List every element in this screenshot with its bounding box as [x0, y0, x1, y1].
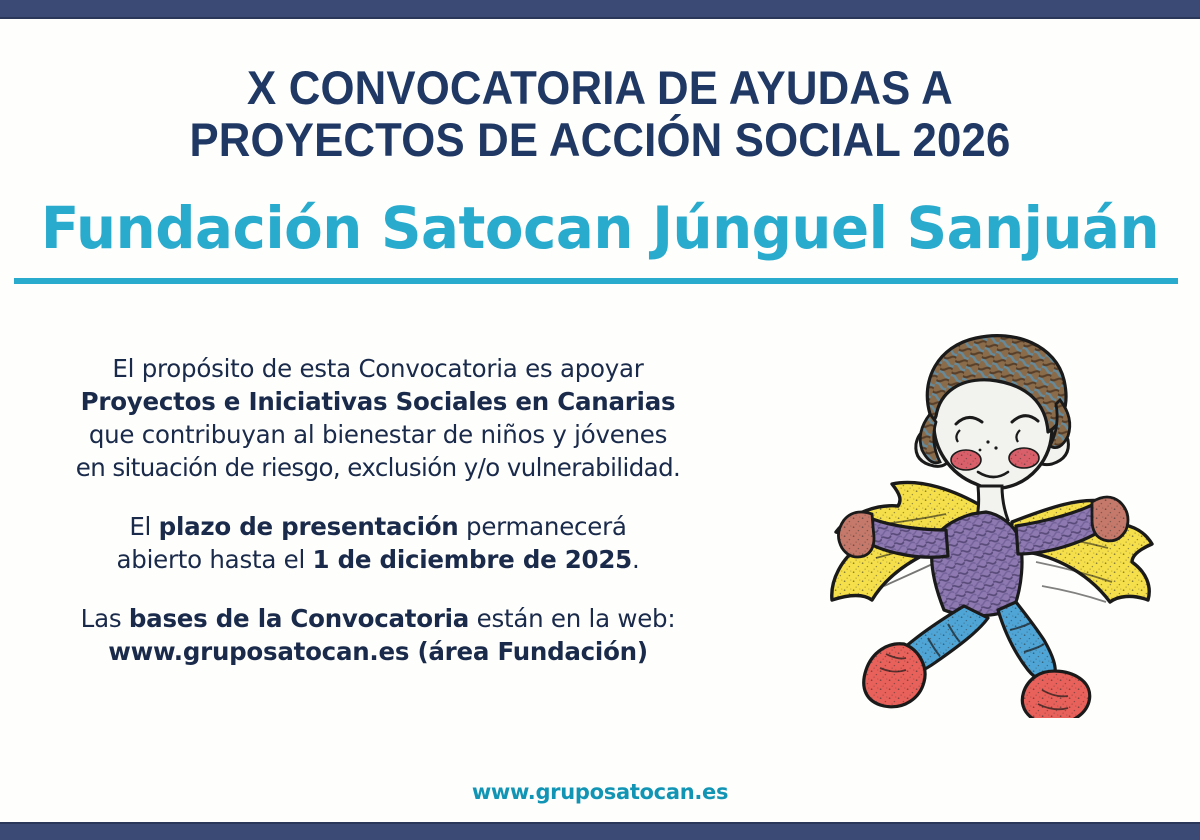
purpose-line-3: que contribuyan al bienestar de niños y …	[8, 418, 748, 451]
page-title: X CONVOCATORIA DE AYUDAS A PROYECTOS DE …	[42, 62, 1158, 166]
illustration-legs	[864, 602, 1090, 718]
deadline-line-2-pre: abierto hasta el	[117, 545, 313, 574]
page-title-line-2: PROYECTOS DE ACCIÓN SOCIAL 2026	[42, 114, 1158, 166]
deadline-date-bold: 1 de diciembre de 2025	[313, 545, 632, 574]
bottom-border-bar	[0, 822, 1200, 840]
deadline-line-1-pre: El	[129, 512, 158, 541]
purpose-line-2-bold: Proyectos e Iniciativas Sociales en Cana…	[81, 387, 676, 416]
rules-term-bold: bases de la Convocatoria	[129, 604, 469, 633]
deadline-line-1-post: permanecerá	[459, 512, 627, 541]
deadline-line-2-post: .	[632, 545, 640, 574]
organization-name: Fundación Satocan Júnguel Sanjuán	[18, 196, 1182, 260]
page-title-line-1: X CONVOCATORIA DE AYUDAS A	[42, 62, 1158, 114]
purpose-paragraph: El propósito de esta Convocatoria es apo…	[8, 352, 748, 484]
rules-line-1-post: están en la web:	[469, 604, 675, 633]
angel-child-illustration	[780, 318, 1180, 718]
body-copy: El propósito de esta Convocatoria es apo…	[8, 352, 748, 668]
footer-website-url[interactable]: www.gruposatocan.es	[0, 780, 1200, 804]
rules-line-1-pre: Las	[81, 604, 129, 633]
purpose-line-1: El propósito de esta Convocatoria es apo…	[8, 352, 748, 385]
deadline-paragraph: El plazo de presentación permanecerá abi…	[8, 510, 748, 576]
teal-divider-rule	[14, 278, 1178, 284]
purpose-line-4: en situación de riesgo, exclusión y/o vu…	[8, 451, 748, 484]
rules-paragraph: Las bases de la Convocatoria están en la…	[8, 602, 748, 668]
top-border-bar	[0, 0, 1200, 19]
deadline-term-bold: plazo de presentación	[159, 512, 459, 541]
poster-canvas: X CONVOCATORIA DE AYUDAS A PROYECTOS DE …	[0, 0, 1200, 840]
rules-website-link[interactable]: www.gruposatocan.es (área Fundación)	[108, 637, 648, 666]
